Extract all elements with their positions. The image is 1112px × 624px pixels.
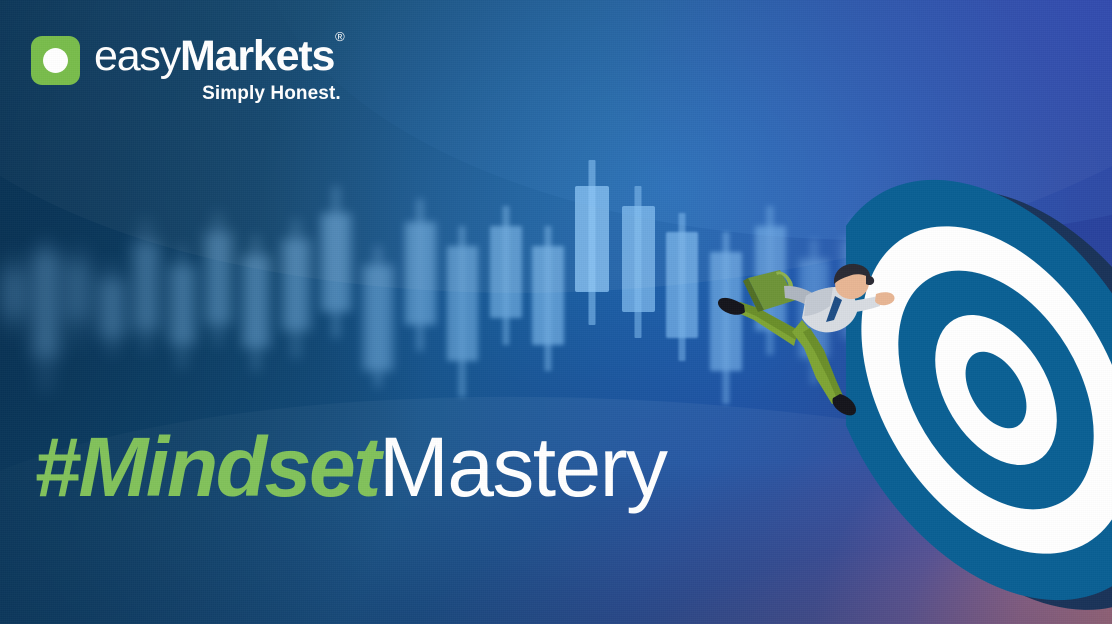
background-noise-overlay xyxy=(0,0,1112,624)
promo-banner: easyMarkets® Simply Honest. #MindsetMast… xyxy=(0,0,1112,624)
